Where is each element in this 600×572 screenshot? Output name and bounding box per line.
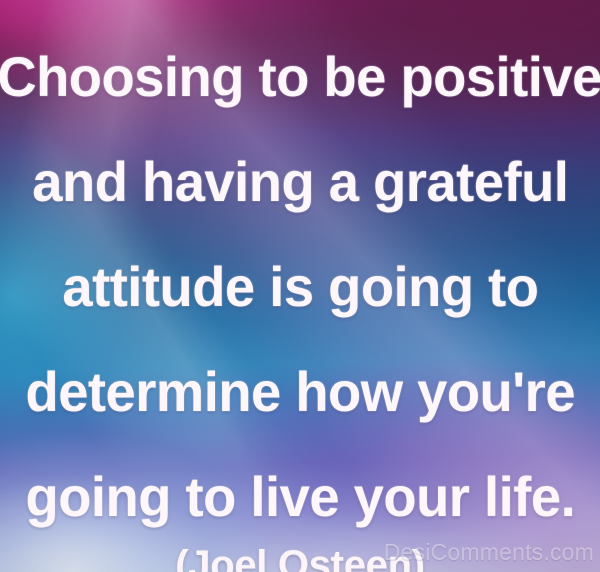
quote-line-1: Choosing to be positive [0, 24, 600, 129]
quote-line-4: determine how you're [25, 339, 575, 444]
quote-image-canvas: Choosing to be positive and having a gra… [0, 0, 600, 572]
quote-line-5: going to live your life. [25, 444, 575, 549]
watermark: DesiComments.com [384, 539, 594, 566]
quote-line-2: and having a grateful [32, 129, 568, 234]
quote-block: Choosing to be positive and having a gra… [0, 0, 600, 572]
quote-line-3: attitude is going to [62, 234, 538, 339]
